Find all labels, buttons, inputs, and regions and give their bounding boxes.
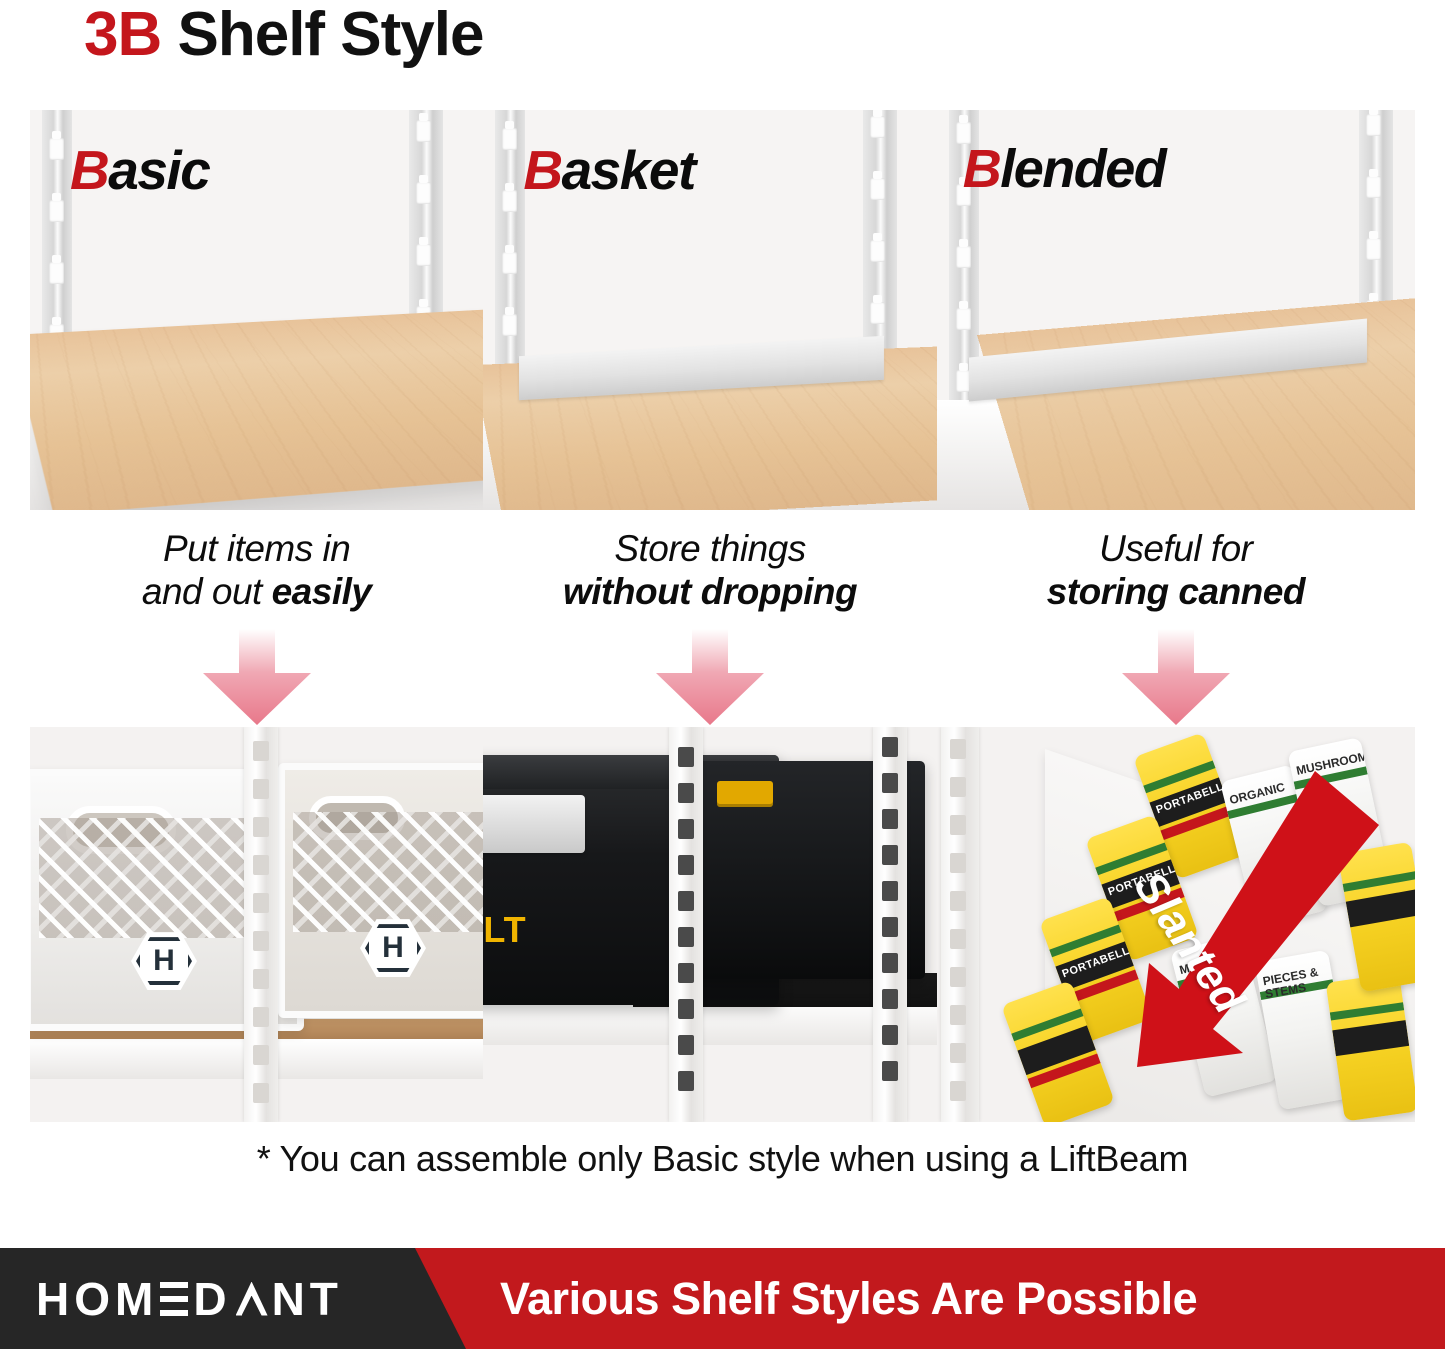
page-title-accent: 3B	[84, 0, 161, 69]
shelf-render-row: Basic Put items in and out easily	[0, 110, 1445, 1122]
down-arrow-icon	[652, 629, 768, 725]
caption-line2-bold: without dropping	[563, 571, 857, 612]
style-label-basket: Basket	[523, 138, 694, 202]
photo-basket: LT	[483, 727, 936, 1122]
style-label-accent: B	[963, 139, 1001, 199]
crate-h-badge: H	[131, 932, 197, 990]
arrow-wrap-basket	[483, 629, 936, 727]
milk-crate-back: H	[278, 763, 483, 1018]
caption-line2: without dropping	[483, 571, 936, 614]
caption-line2-plain: and out	[142, 571, 272, 612]
arrow-wrap-blended	[937, 629, 1415, 727]
style-column-blended: Blended Useful for storing canned	[937, 110, 1415, 1122]
upright-post-icon	[244, 727, 278, 1122]
photo-basic: H H	[30, 727, 483, 1122]
style-label-accent: B	[523, 139, 561, 201]
style-label-rest: asic	[108, 139, 209, 201]
upright-post-icon	[669, 727, 703, 1122]
brand-logo: HOM D NT	[36, 1272, 343, 1326]
caption-line2: and out easily	[30, 571, 483, 614]
shelf-render-blended: Blended	[937, 110, 1415, 510]
brand-logo-part3: NT	[272, 1272, 343, 1326]
style-column-basic: Basic Put items in and out easily	[30, 110, 483, 1122]
caption-basket: Store things without dropping	[483, 528, 936, 613]
footnote: * You can assemble only Basic style when…	[0, 1138, 1445, 1180]
shelf-render-basic: Basic	[30, 110, 483, 510]
style-label-basic: Basic	[70, 138, 209, 202]
cans-group: PORTABELLA PORTABELLA PORTABELLA	[937, 727, 1415, 1122]
footer-tagline: Various Shelf Styles Are Possible	[500, 1273, 1197, 1325]
upright-post-icon	[941, 727, 979, 1122]
brand-logo-part1: HOM	[36, 1272, 158, 1326]
styles-grid: Basic Put items in and out easily	[0, 110, 1445, 1122]
photo-blended: PORTABELLA PORTABELLA PORTABELLA	[937, 727, 1415, 1122]
down-arrow-icon	[1118, 629, 1234, 725]
caption-line1: Useful for	[1099, 528, 1252, 569]
page-title: 3B Shelf Style	[84, 2, 483, 67]
toolbox-latch	[717, 781, 773, 807]
crate-lattice	[293, 812, 483, 932]
upright-post-icon	[873, 727, 907, 1122]
caption-blended: Useful for storing canned	[937, 528, 1415, 613]
wood-shelf-board	[30, 281, 483, 510]
slanted-badge: Slanted	[1117, 767, 1415, 1067]
toolbox-brand-label: LT	[483, 909, 526, 951]
style-label-rest: asket	[562, 139, 695, 201]
brand-logo-part2: D	[193, 1272, 231, 1326]
caption-line1: Store things	[614, 528, 805, 569]
caption-line2: storing canned	[937, 571, 1415, 614]
reversed-e-glyph-icon	[160, 1282, 188, 1316]
caption-basic: Put items in and out easily	[30, 528, 483, 613]
caption-line2-bold: storing canned	[1047, 571, 1305, 612]
metal-tray	[483, 795, 585, 853]
style-column-basket: Basket Store things without dropping	[483, 110, 936, 1122]
footer-bar: HOM D NT Various Shelf Styles Are Possib…	[0, 1248, 1445, 1349]
arrow-wrap-basic	[30, 629, 483, 727]
caption-line2-bold: easily	[272, 571, 372, 612]
triangle-a-glyph-icon	[236, 1282, 268, 1316]
style-label-rest: lended	[1000, 139, 1165, 199]
style-label-blended: Blended	[963, 138, 1166, 200]
shelf-render-basket: Basket	[483, 110, 936, 510]
down-arrow-icon	[199, 629, 315, 725]
page-title-rest: Shelf Style	[161, 0, 483, 69]
caption-line1: Put items in	[163, 528, 350, 569]
style-label-accent: B	[70, 139, 108, 201]
